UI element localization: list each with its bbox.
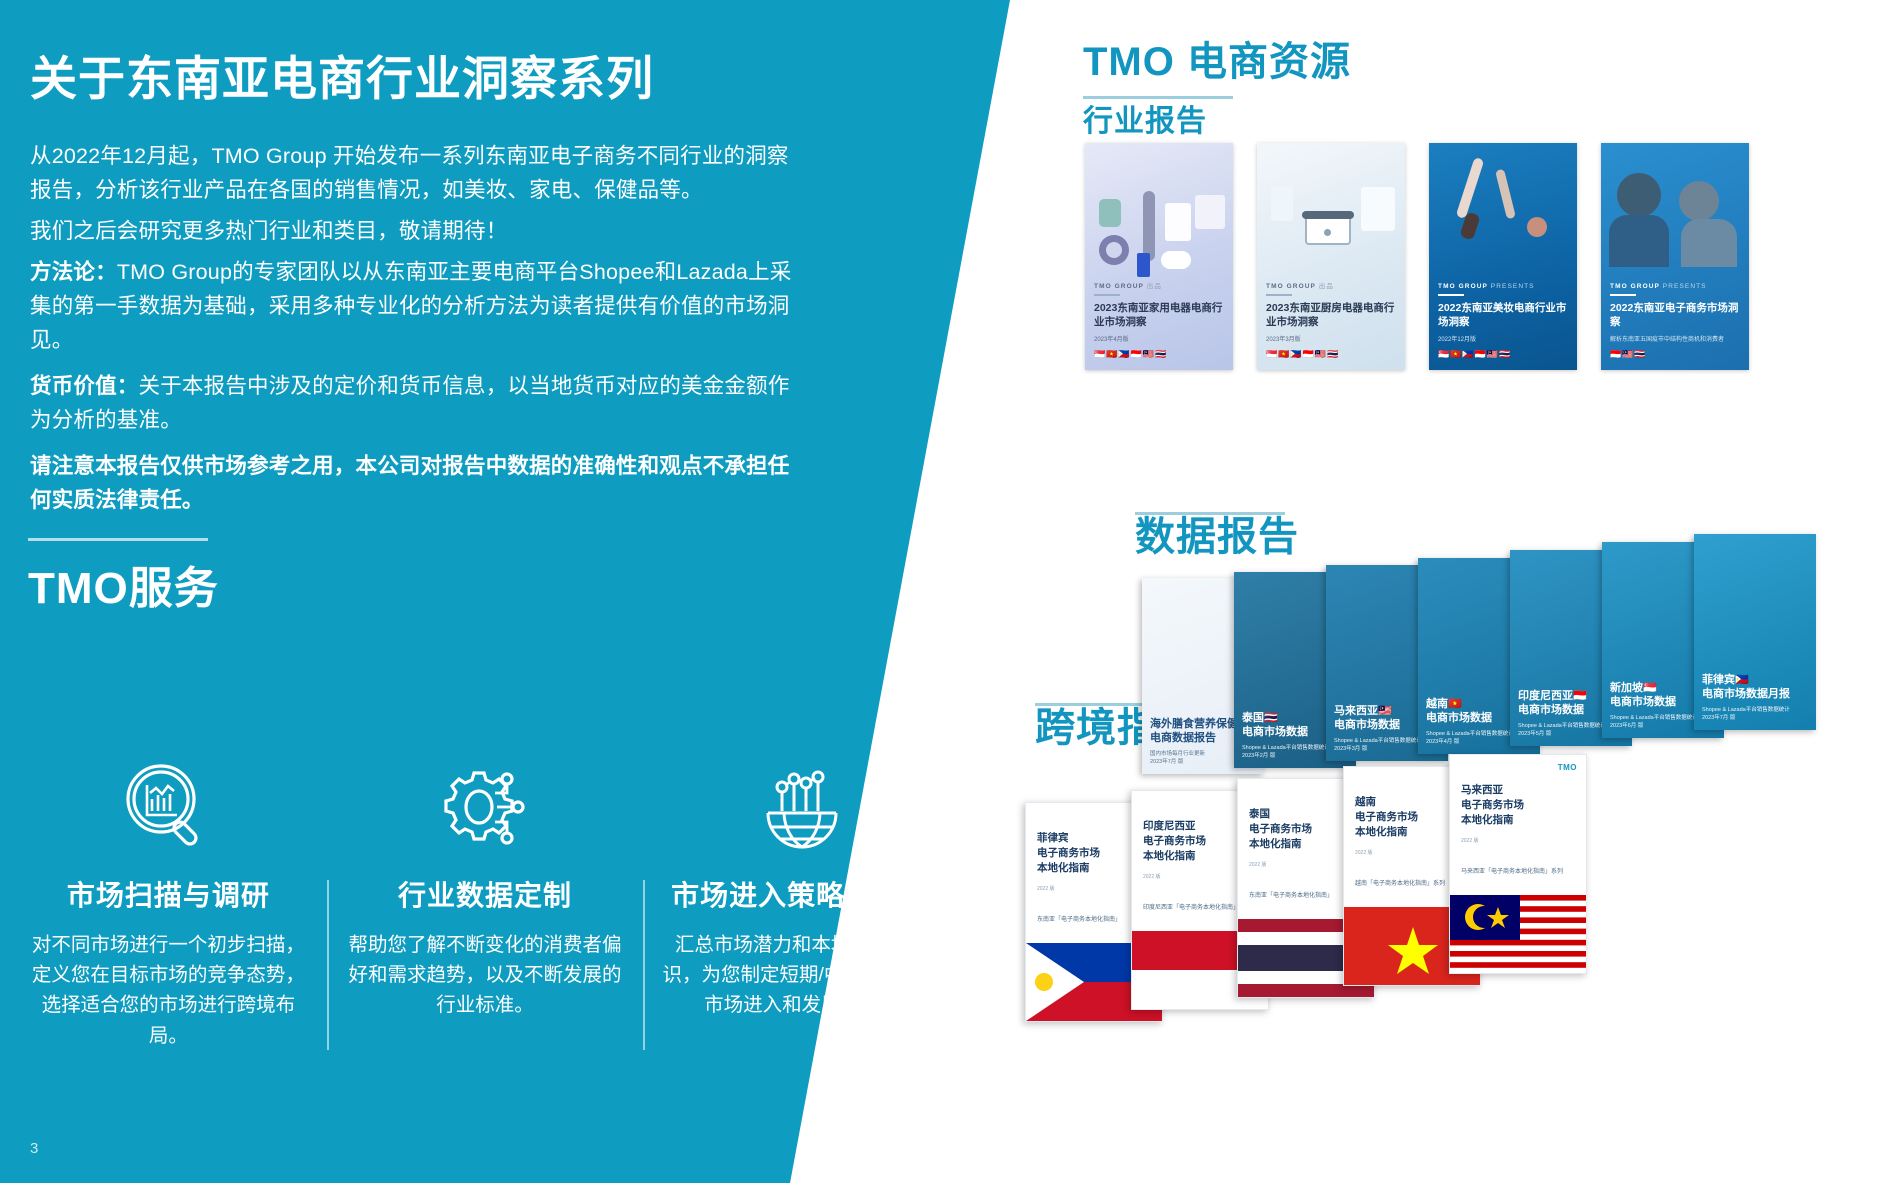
methodology-label: 方法论： [30,260,117,284]
brand-name: TMO GROUP [1438,283,1488,290]
industry-reports-heading-block: 行业报告 [1083,96,1233,140]
service-heading: 行业数据定制 [345,874,626,914]
disclaimer-paragraph: 请注意本报告仅供市场参考之用，本公司对报告中数据的准确性和观点不承担任何实质法律… [30,450,800,518]
cover-brand: TMO GROUP PRESENTS [1610,283,1740,290]
guide-card[interactable]: TMO 马来西亚 电子商务市场 本地化指南 2022 版 马来西亚「电子商务本地… [1449,754,1587,974]
guide-top: 马来西亚 电子商务市场 本地化指南 2022 版 马来西亚「电子商务本地化指南」… [1450,755,1586,875]
report-cover[interactable]: TMO GROUP PRESENTS 2022东南亚美妆电商行业市场洞察 202… [1429,143,1577,370]
cover-title: 2023东南亚家用电器电商行业市场洞察 [1094,301,1224,329]
service-body: 帮助您了解不断变化的消费者偏好和需求趋势，以及不断发展的行业标准。 [345,930,626,1021]
brand-suffix: 出品 [1319,283,1334,290]
currency-body: 关于本报告中涉及的定价和货币信息，以当地货币对应的美金金额作为分析的基准。 [30,374,790,432]
methodology-body: TMO Group的专家团队以从东南亚主要电商平台Shopee和Lazada上采… [30,260,791,352]
cover-subtitle: 解析东南亚五国疫市中结构性商机和消费者 [1610,334,1740,343]
cover-subtitle: 2023年3月版 [1266,334,1396,343]
cover-divider [1610,294,1636,296]
cover-flags: 🇸🇬🇻🇳🇵🇭🇮🇩🇲🇾🇹🇭 [1438,349,1568,360]
service-card-market-scan: 市场扫描与调研 对不同市场进行一个初步扫描，定义您在目标市场的竞争态势，选择适合… [10,752,327,1051]
brand-suffix: 出品 [1147,283,1162,290]
services-grid: 市场扫描与调研 对不同市场进行一个初步扫描，定义您在目标市场的竞争态势，选择适合… [10,752,960,1051]
gear-network-icon [345,752,626,862]
brand-name: TMO GROUP [1266,283,1316,290]
flag-malaysia-icon [1450,895,1586,973]
cover-subtitle: 2023年4月版 [1094,334,1224,343]
cover-brand: TMO GROUP PRESENTS [1438,283,1568,290]
service-heading: 市场进入策略与实施 [661,874,942,914]
cover-flags: 🇮🇩🇲🇾🇹🇭 [1610,349,1740,360]
guide-meta: 2022 版 [1461,837,1575,844]
magnifier-chart-icon [28,752,309,862]
brand-suffix: PRESENTS [1491,283,1535,290]
cover-divider [1438,294,1464,296]
service-body: 汇总市场潜力和本地化相关知识，为您制定短期/中期和长期的市场进入和发展策略。 [661,930,942,1021]
currency-paragraph: 货币价值：关于本报告中涉及的定价和货币信息，以当地货币对应的美金金额作为分析的基… [30,370,800,438]
report-cover[interactable]: TMO GROUP 出品 2023东南亚家用电器电商行业市场洞察 2023年4月… [1085,143,1233,370]
cover-title: 2022东南亚美妆电商行业市场洞察 [1438,301,1568,329]
resources-heading: TMO 电商资源 [1083,40,1351,84]
brand-name: TMO GROUP [1610,283,1660,290]
cover-flags: 🇸🇬🇻🇳🇵🇭🇮🇩🇲🇾🇹🇭 [1266,349,1396,360]
cover-flags: 🇸🇬🇻🇳🇵🇭🇮🇩🇲🇾🇹🇭 [1094,349,1224,360]
cover-brand: TMO GROUP 出品 [1094,280,1224,290]
data-reports-heading: 数据报告 [1135,515,1299,559]
cover-title: 2023东南亚厨房电器电商行业市场洞察 [1266,301,1396,329]
intro-paragraph-2: 我们之后会研究更多热门行业和类目，敬请期待！ [30,215,800,249]
data-report-card[interactable]: 菲律宾🇵🇭 电商市场数据月报 Shopee & Lazada平台销售数据统计 2… [1694,534,1816,730]
card-title: 菲律宾🇵🇭 电商市场数据月报 [1702,674,1808,702]
cover-divider [1266,294,1292,296]
tmo-logo: TMO [1558,763,1577,772]
report-cover[interactable]: TMO GROUP 出品 2023东南亚厨房电器电商行业市场洞察 2023年3月… [1257,143,1405,370]
cover-text: TMO GROUP 出品 2023东南亚家用电器电商行业市场洞察 2023年4月… [1085,280,1233,370]
card-subtitle: Shopee & Lazada平台销售数据统计 2023年7月 版 [1702,706,1808,723]
cross-border-guide-cards: 菲律宾 电子商务市场 本地化指南 2022 版 东南亚「电子商务本地化指南」 印… [1025,750,1845,980]
report-cover[interactable]: TMO GROUP PRESENTS 2022东南亚电子商务市场洞察 解析东南亚… [1601,143,1749,370]
cover-divider [1094,294,1120,296]
services-heading: TMO服务 [28,552,219,616]
currency-label: 货币价值： [30,374,139,398]
cover-text: TMO GROUP PRESENTS 2022东南亚美妆电商行业市场洞察 202… [1429,283,1577,370]
industry-report-covers: TMO GROUP 出品 2023东南亚家用电器电商行业市场洞察 2023年4月… [1085,143,1749,370]
intro-paragraph-1: 从2022年12月起，TMO Group 开始发布一系列东南亚电子商务不同行业的… [30,140,800,208]
data-reports-heading-block: 数据报告 [1135,512,1299,559]
guide-footer: 马来西亚「电子商务本地化指南」系列 [1461,866,1575,875]
service-heading: 市场扫描与调研 [28,874,309,914]
section-rule [1083,96,1233,99]
cover-text: TMO GROUP 出品 2023东南亚厨房电器电商行业市场洞察 2023年3月… [1257,280,1405,370]
page-number: 3 [30,1140,38,1157]
data-report-cards: 海外膳食营养保健品电商数据报告 国内市场每月行业更新 2023年7月 版 泰国🇹… [1142,560,1882,780]
cover-subtitle: 2022年12月版 [1438,334,1568,343]
left-content: 关于东南亚电商行业洞察系列 从2022年12月起，TMO Group 开始发布一… [0,0,1010,1183]
cover-title: 2022东南亚电子商务市场洞察 [1610,301,1740,329]
globe-analytics-icon [661,752,942,862]
methodology-paragraph: 方法论：TMO Group的专家团队以从东南亚主要电商平台Shopee和Laza… [30,256,800,358]
cover-text: TMO GROUP PRESENTS 2022东南亚电子商务市场洞察 解析东南亚… [1601,283,1749,370]
resources-heading-block: TMO 电商资源 [1083,40,1351,84]
right-content: TMO 电商资源 行业报告 TMO GROUP 出品 [1060,0,1894,1183]
service-body: 对不同市场进行一个初步扫描，定义您在目标市场的竞争态势，选择适合您的市场进行跨境… [28,930,309,1051]
brand-name: TMO GROUP [1094,283,1144,290]
page-title: 关于东南亚电商行业洞察系列 [30,52,890,106]
services-rule [28,538,208,541]
guide-title: 马来西亚 电子商务市场 本地化指南 [1461,783,1575,829]
slide-page: 关于东南亚电商行业洞察系列 从2022年12月起，TMO Group 开始发布一… [0,0,1894,1183]
service-card-data-custom: 行业数据定制 帮助您了解不断变化的消费者偏好和需求趋势，以及不断发展的行业标准。 [327,752,644,1021]
cover-brand: TMO GROUP 出品 [1266,280,1396,290]
brand-suffix: PRESENTS [1663,283,1707,290]
industry-reports-heading: 行业报告 [1083,105,1233,140]
service-card-market-entry: 市场进入策略与实施 汇总市场潜力和本地化相关知识，为您制定短期/中期和长期的市场… [643,752,960,1021]
